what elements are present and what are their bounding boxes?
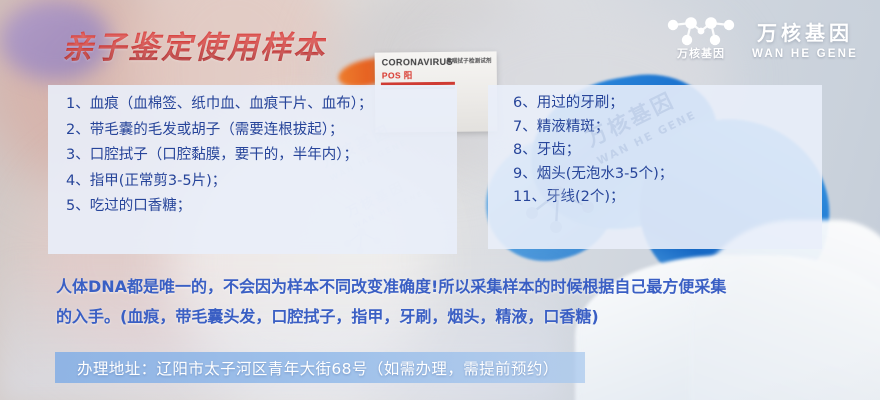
- brand-logo: 万核基因 万核基因 WAN HE GENE: [664, 16, 858, 60]
- list-item: 5、吃过的口香糖；: [66, 199, 457, 214]
- list-item: 4、指甲(正常剪3-5片)；: [66, 174, 457, 189]
- molecule-network-icon: 万核基因: [664, 16, 738, 60]
- list-item: 7、精液精斑；: [513, 120, 822, 135]
- note-line-2: 的入手。(血痕，带毛囊头发，口腔拭子，指甲，牙刷，烟头，精液，口香糖): [56, 302, 846, 332]
- list-item: 6、用过的牙刷；: [513, 96, 822, 111]
- brand-name-block: 万核基因 WAN HE GENE: [752, 17, 858, 60]
- page-title: 亲子鉴定使用样本: [62, 22, 326, 67]
- list-item: 1、血痕（血棉签、纸巾血、血痕干片、血布）；: [66, 97, 457, 112]
- address-text: 办理地址：辽阳市太子河区青年大街68号（如需办理，需提前预约）: [55, 357, 559, 379]
- brand-name-cn: 万核基因: [757, 17, 853, 46]
- sample-list-panel-left: 1、血痕（血棉签、纸巾血、血痕干片、血布）； 2、带毛囊的毛发或胡子（需要连根拔…: [48, 85, 457, 254]
- note-line-1: 人体DNA都是唯一的，不会因为样本不同改变准确度!所以采集样本的时候根据自己最方…: [56, 272, 846, 302]
- brand-name-en: WAN HE GENE: [752, 48, 858, 60]
- note-paragraph: 人体DNA都是唯一的，不会因为样本不同改变准确度!所以采集样本的时候根据自己最方…: [56, 272, 846, 332]
- watermark-molecule-icon: [520, 175, 610, 237]
- list-item: 3、口腔拭子（口腔黏膜，要干的，半年内）；: [66, 148, 457, 163]
- list-item: 2、带毛囊的毛发或胡子（需要连根拔起）；: [66, 123, 457, 138]
- sample-list-left: 1、血痕（血棉签、纸巾血、血痕干片、血布）； 2、带毛囊的毛发或胡子（需要连根拔…: [48, 85, 457, 214]
- logo-mark-label: 万核基因: [677, 45, 725, 61]
- list-item: 8、牙齿；: [513, 143, 822, 158]
- address-bar: 办理地址：辽阳市太子河区青年大街68号（如需办理，需提前预约）: [55, 352, 585, 383]
